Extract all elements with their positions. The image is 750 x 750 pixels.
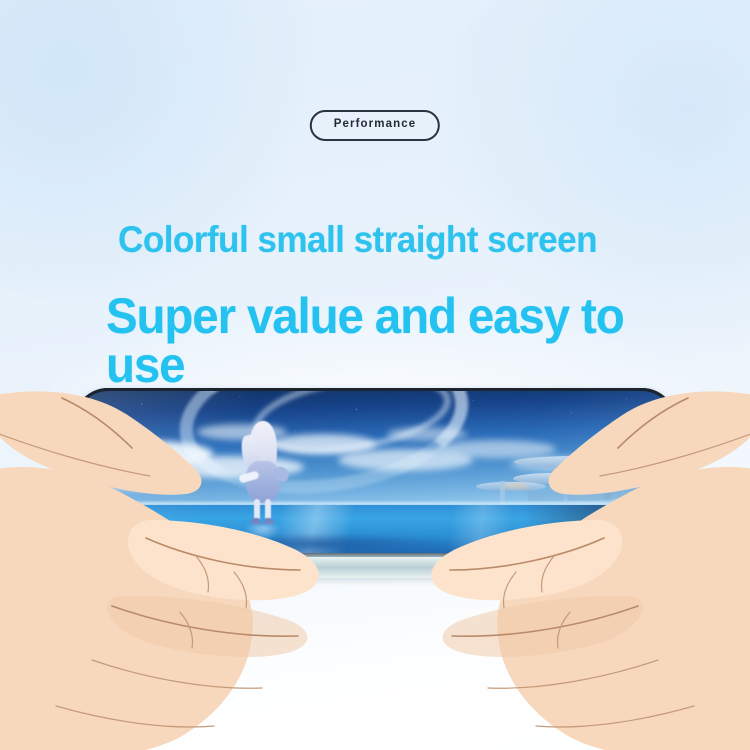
wallpaper-girl-figure <box>237 421 291 527</box>
phone-screen <box>68 388 682 566</box>
city-block <box>528 491 564 502</box>
city-block <box>604 483 658 499</box>
wallpaper-cloud <box>80 472 190 490</box>
wallpaper-light-spark <box>617 534 627 538</box>
performance-badge: Performance <box>310 110 440 141</box>
background-tint-left <box>0 0 340 310</box>
performance-badge-label: Performance <box>334 119 416 131</box>
girl-shoe <box>251 518 261 525</box>
city-block <box>567 488 611 501</box>
product-poster: Performance Colorful small straight scre… <box>0 0 750 750</box>
city-light-glow <box>554 476 588 480</box>
girl-shoe <box>264 518 274 525</box>
subheadline: Super value and easy to use <box>106 292 638 390</box>
phone-device <box>68 388 682 566</box>
phone-frame-edge <box>74 553 676 557</box>
phone-metal-frame <box>74 556 676 578</box>
headline: Colorful small straight screen <box>118 221 597 258</box>
girl-reflection <box>245 525 281 541</box>
